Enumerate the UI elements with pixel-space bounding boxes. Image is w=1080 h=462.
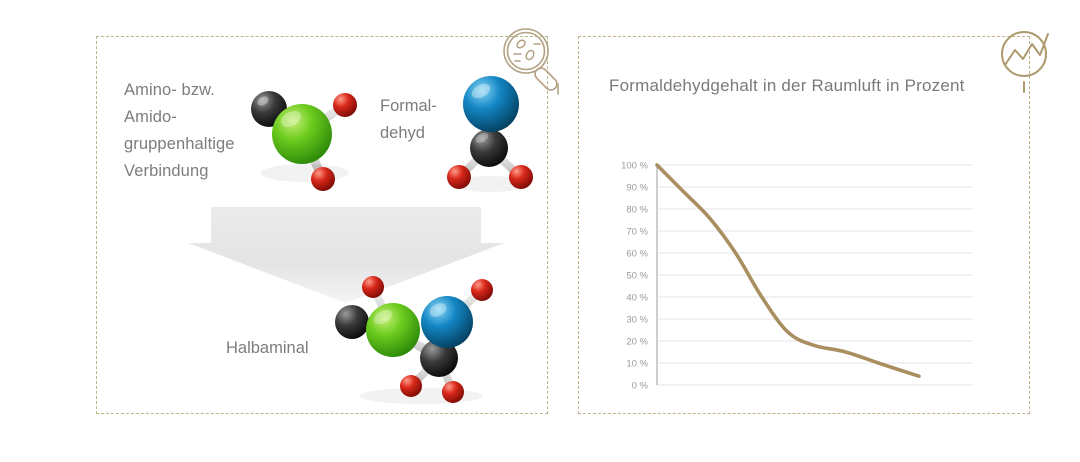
oxygen-atom bbox=[362, 276, 384, 298]
reaction-diagram-panel: Amino- bzw. Amido- gruppenhaltige Verbin… bbox=[96, 36, 548, 414]
formaldehyde-chart-panel: Formaldehydgehalt in der Raumluft in Pro… bbox=[578, 36, 1030, 414]
magnifier-molecules-icon bbox=[496, 22, 572, 98]
data-series-line bbox=[657, 165, 919, 376]
y-axis-tick-label: 30 % bbox=[626, 314, 648, 325]
y-axis-tick-label: 50 % bbox=[626, 270, 648, 281]
y-axis-tick-label: 20 % bbox=[626, 336, 648, 347]
result-label: Halbaminal bbox=[226, 336, 309, 360]
line-chart: 100 %90 %80 %70 %60 %50 %40 %30 %20 %10 … bbox=[601, 117, 1011, 392]
line-chart-circle-icon bbox=[988, 22, 1064, 98]
oxygen-atom bbox=[311, 167, 335, 191]
y-axis-tick-label: 10 % bbox=[626, 358, 648, 369]
halbaminal-molecule bbox=[325, 272, 503, 404]
nitrogen-atom bbox=[366, 303, 420, 357]
y-axis-tick-label: 40 % bbox=[626, 292, 648, 303]
oxygen-atom bbox=[421, 296, 473, 348]
y-axis-tick-label: 70 % bbox=[626, 226, 648, 237]
chart-title: Formaldehydgehalt in der Raumluft in Pro… bbox=[609, 76, 965, 96]
grid-lines bbox=[657, 165, 973, 385]
oxygen-atom bbox=[333, 93, 357, 117]
hydrogen-atom bbox=[509, 165, 533, 189]
y-axis-tick-label: 60 % bbox=[626, 248, 648, 259]
y-axis-tick-labels: 100 %90 %80 %70 %60 %50 %40 %30 %20 %10 … bbox=[621, 160, 648, 391]
y-axis-tick-label: 0 % bbox=[632, 380, 649, 391]
y-axis-tick-label: 100 % bbox=[621, 160, 648, 171]
y-axis-tick-label: 90 % bbox=[626, 182, 648, 193]
oxygen-atom bbox=[471, 279, 493, 301]
chart-plot-area: 100 %90 %80 %70 %60 %50 %40 %30 %20 %10 … bbox=[601, 117, 1011, 392]
hydrogen-atom bbox=[447, 165, 471, 189]
oxygen-atom bbox=[400, 375, 422, 397]
carbon-atom bbox=[335, 305, 369, 339]
amino-compound-molecule bbox=[239, 81, 369, 199]
y-axis-tick-label: 80 % bbox=[626, 204, 648, 215]
oxygen-atom bbox=[442, 381, 464, 403]
nitrogen-atom bbox=[272, 104, 332, 164]
carbon-atom bbox=[470, 129, 508, 167]
